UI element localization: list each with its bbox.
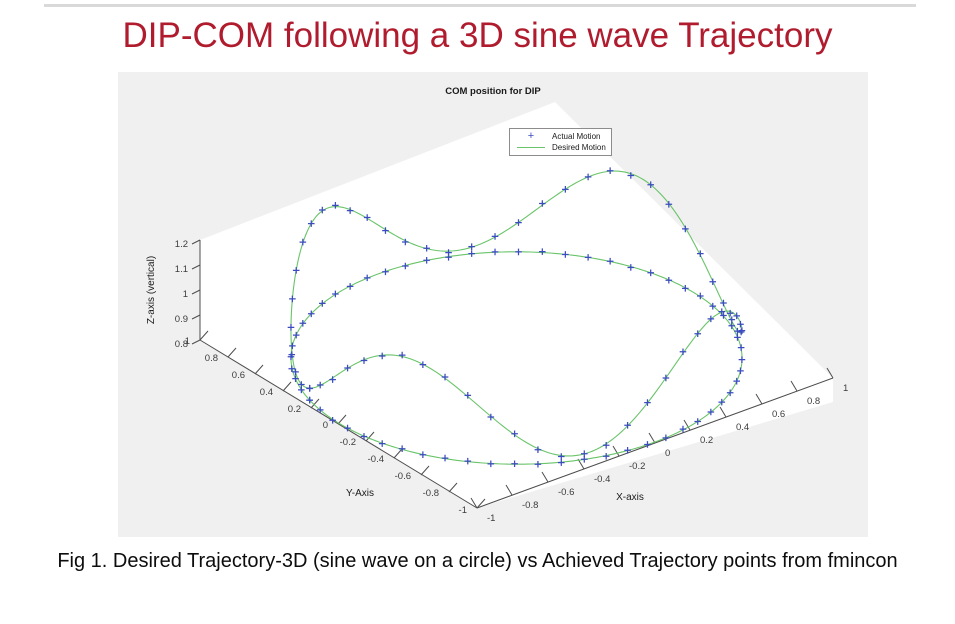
svg-text:0.6: 0.6 xyxy=(772,409,785,420)
svg-text:0.6: 0.6 xyxy=(232,370,245,381)
svg-text:0.8: 0.8 xyxy=(807,396,820,407)
figure-caption: Fig 1. Desired Trajectory-3D (sine wave … xyxy=(0,548,955,575)
svg-text:-1: -1 xyxy=(459,505,467,516)
svg-text:0.2: 0.2 xyxy=(700,435,713,446)
svg-text:0.4: 0.4 xyxy=(736,422,749,433)
legend-entry-actual: + Actual Motion xyxy=(514,131,606,142)
svg-text:-0.6: -0.6 xyxy=(558,487,574,498)
axes-panel xyxy=(200,102,833,508)
svg-text:-0.4: -0.4 xyxy=(594,474,610,485)
plus-marker-icon: + xyxy=(514,131,548,142)
legend-entry-desired: Desired Motion xyxy=(514,142,606,153)
z-axis-label: Z-axis (vertical) xyxy=(146,256,157,324)
svg-text:1.2: 1.2 xyxy=(175,239,188,250)
slide-title: DIP-COM following a 3D sine wave Traject… xyxy=(0,14,955,58)
svg-text:0.2: 0.2 xyxy=(288,404,301,415)
line-swatch-icon xyxy=(514,147,548,148)
svg-text:-0.8: -0.8 xyxy=(423,488,439,499)
svg-text:-0.8: -0.8 xyxy=(522,500,538,511)
svg-text:0: 0 xyxy=(323,420,328,431)
svg-text:-0.2: -0.2 xyxy=(629,461,645,472)
header-divider xyxy=(44,4,916,7)
svg-text:0.4: 0.4 xyxy=(260,387,273,398)
y-axis-label: Y-Axis xyxy=(346,488,374,499)
z-tick-labels: 1.2 1.1 1 0.9 0.8 xyxy=(175,239,188,350)
svg-text:0.8: 0.8 xyxy=(205,353,218,364)
svg-text:-1: -1 xyxy=(487,513,495,524)
axes-3d: 1.2 1.1 1 0.9 0.8 Z-axis (vertical) 1 0.… xyxy=(118,72,868,537)
matlab-figure: COM position for DIP 1.2 1.1 1 0.9 xyxy=(118,72,868,537)
svg-text:1.1: 1.1 xyxy=(175,264,188,275)
legend-label-actual: Actual Motion xyxy=(548,132,600,141)
svg-text:1: 1 xyxy=(185,336,190,347)
svg-text:-0.6: -0.6 xyxy=(395,471,411,482)
svg-text:-0.2: -0.2 xyxy=(340,437,356,448)
x-axis-label: X-axis xyxy=(616,492,644,503)
legend[interactable]: + Actual Motion Desired Motion xyxy=(509,128,612,156)
z-tick-group xyxy=(192,240,200,344)
legend-label-desired: Desired Motion xyxy=(548,143,606,152)
svg-text:-0.4: -0.4 xyxy=(368,454,384,465)
svg-text:1: 1 xyxy=(183,289,188,300)
svg-text:0: 0 xyxy=(665,448,670,459)
svg-text:0.9: 0.9 xyxy=(175,314,188,325)
svg-text:1: 1 xyxy=(843,383,848,394)
